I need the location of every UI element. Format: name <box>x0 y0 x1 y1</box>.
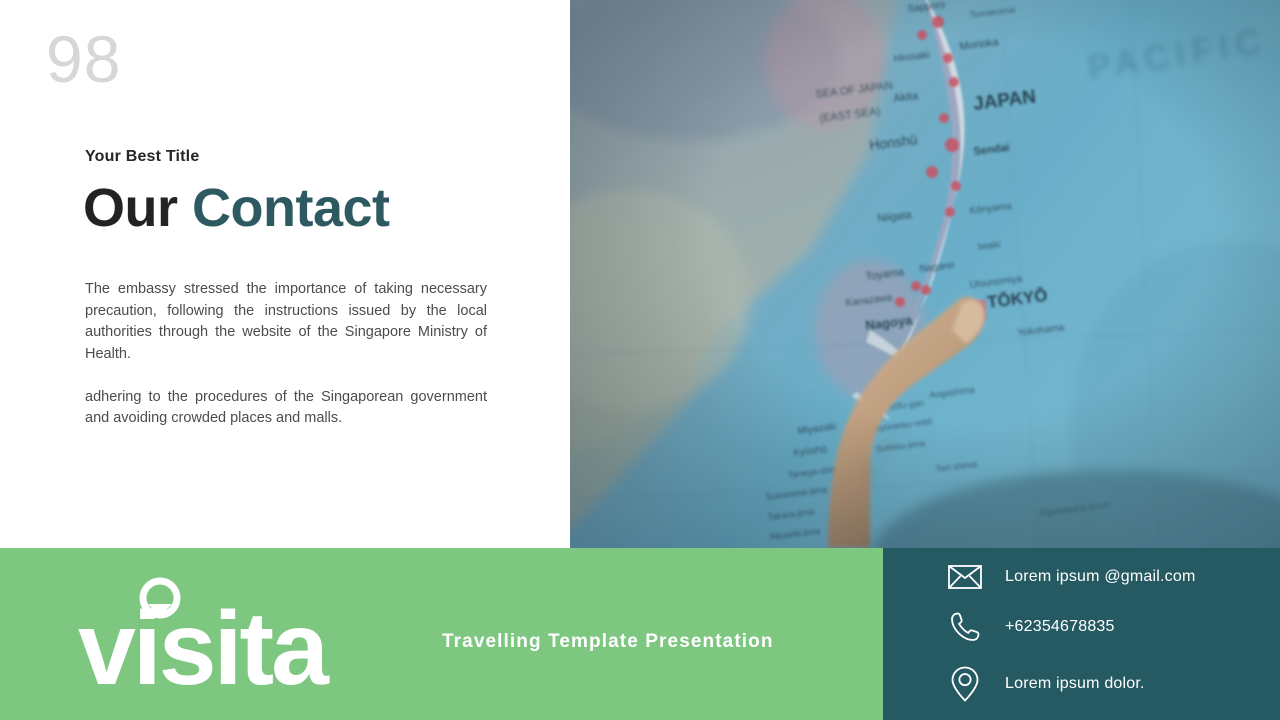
presentation-slide: Sapporo Tomakomai Hirosaki Morioka Akita… <box>0 0 1280 720</box>
svg-text:visita: visita <box>78 591 330 696</box>
contact-row-email[interactable]: Lorem ipsum @gmail.com <box>945 557 1195 597</box>
contact-email-label: Lorem ipsum @gmail.com <box>1005 568 1195 586</box>
page-number: 98 <box>46 26 121 92</box>
contact-row-address[interactable]: Lorem ipsum dolor. <box>945 664 1145 704</box>
envelope-icon <box>945 557 985 597</box>
contact-address-label: Lorem ipsum dolor. <box>1005 675 1145 693</box>
eyebrow-title: Your Best Title <box>85 148 199 166</box>
footer-tagline: Travelling Template Presentation <box>442 631 774 653</box>
body-paragraph-2: adhering to the procedures of the Singap… <box>85 387 487 430</box>
body-paragraph-1: The embassy stressed the importance of t… <box>85 279 487 365</box>
body-copy: The embassy stressed the importance of t… <box>85 279 487 430</box>
contact-row-phone[interactable]: +62354678835 <box>945 607 1115 647</box>
map-photo: Sapporo Tomakomai Hirosaki Morioka Akita… <box>570 0 1280 548</box>
phone-icon <box>945 607 985 647</box>
contact-list: Lorem ipsum @gmail.com +62354678835 Lore… <box>883 548 1280 720</box>
page-title: Our Contact <box>83 178 390 238</box>
headline-accent: Contact <box>192 178 390 238</box>
contact-phone-label: +62354678835 <box>1005 618 1115 636</box>
brand-logo[interactable]: visita <box>78 576 388 696</box>
location-pin-icon <box>945 664 985 704</box>
headline-primary: Our <box>83 178 192 238</box>
